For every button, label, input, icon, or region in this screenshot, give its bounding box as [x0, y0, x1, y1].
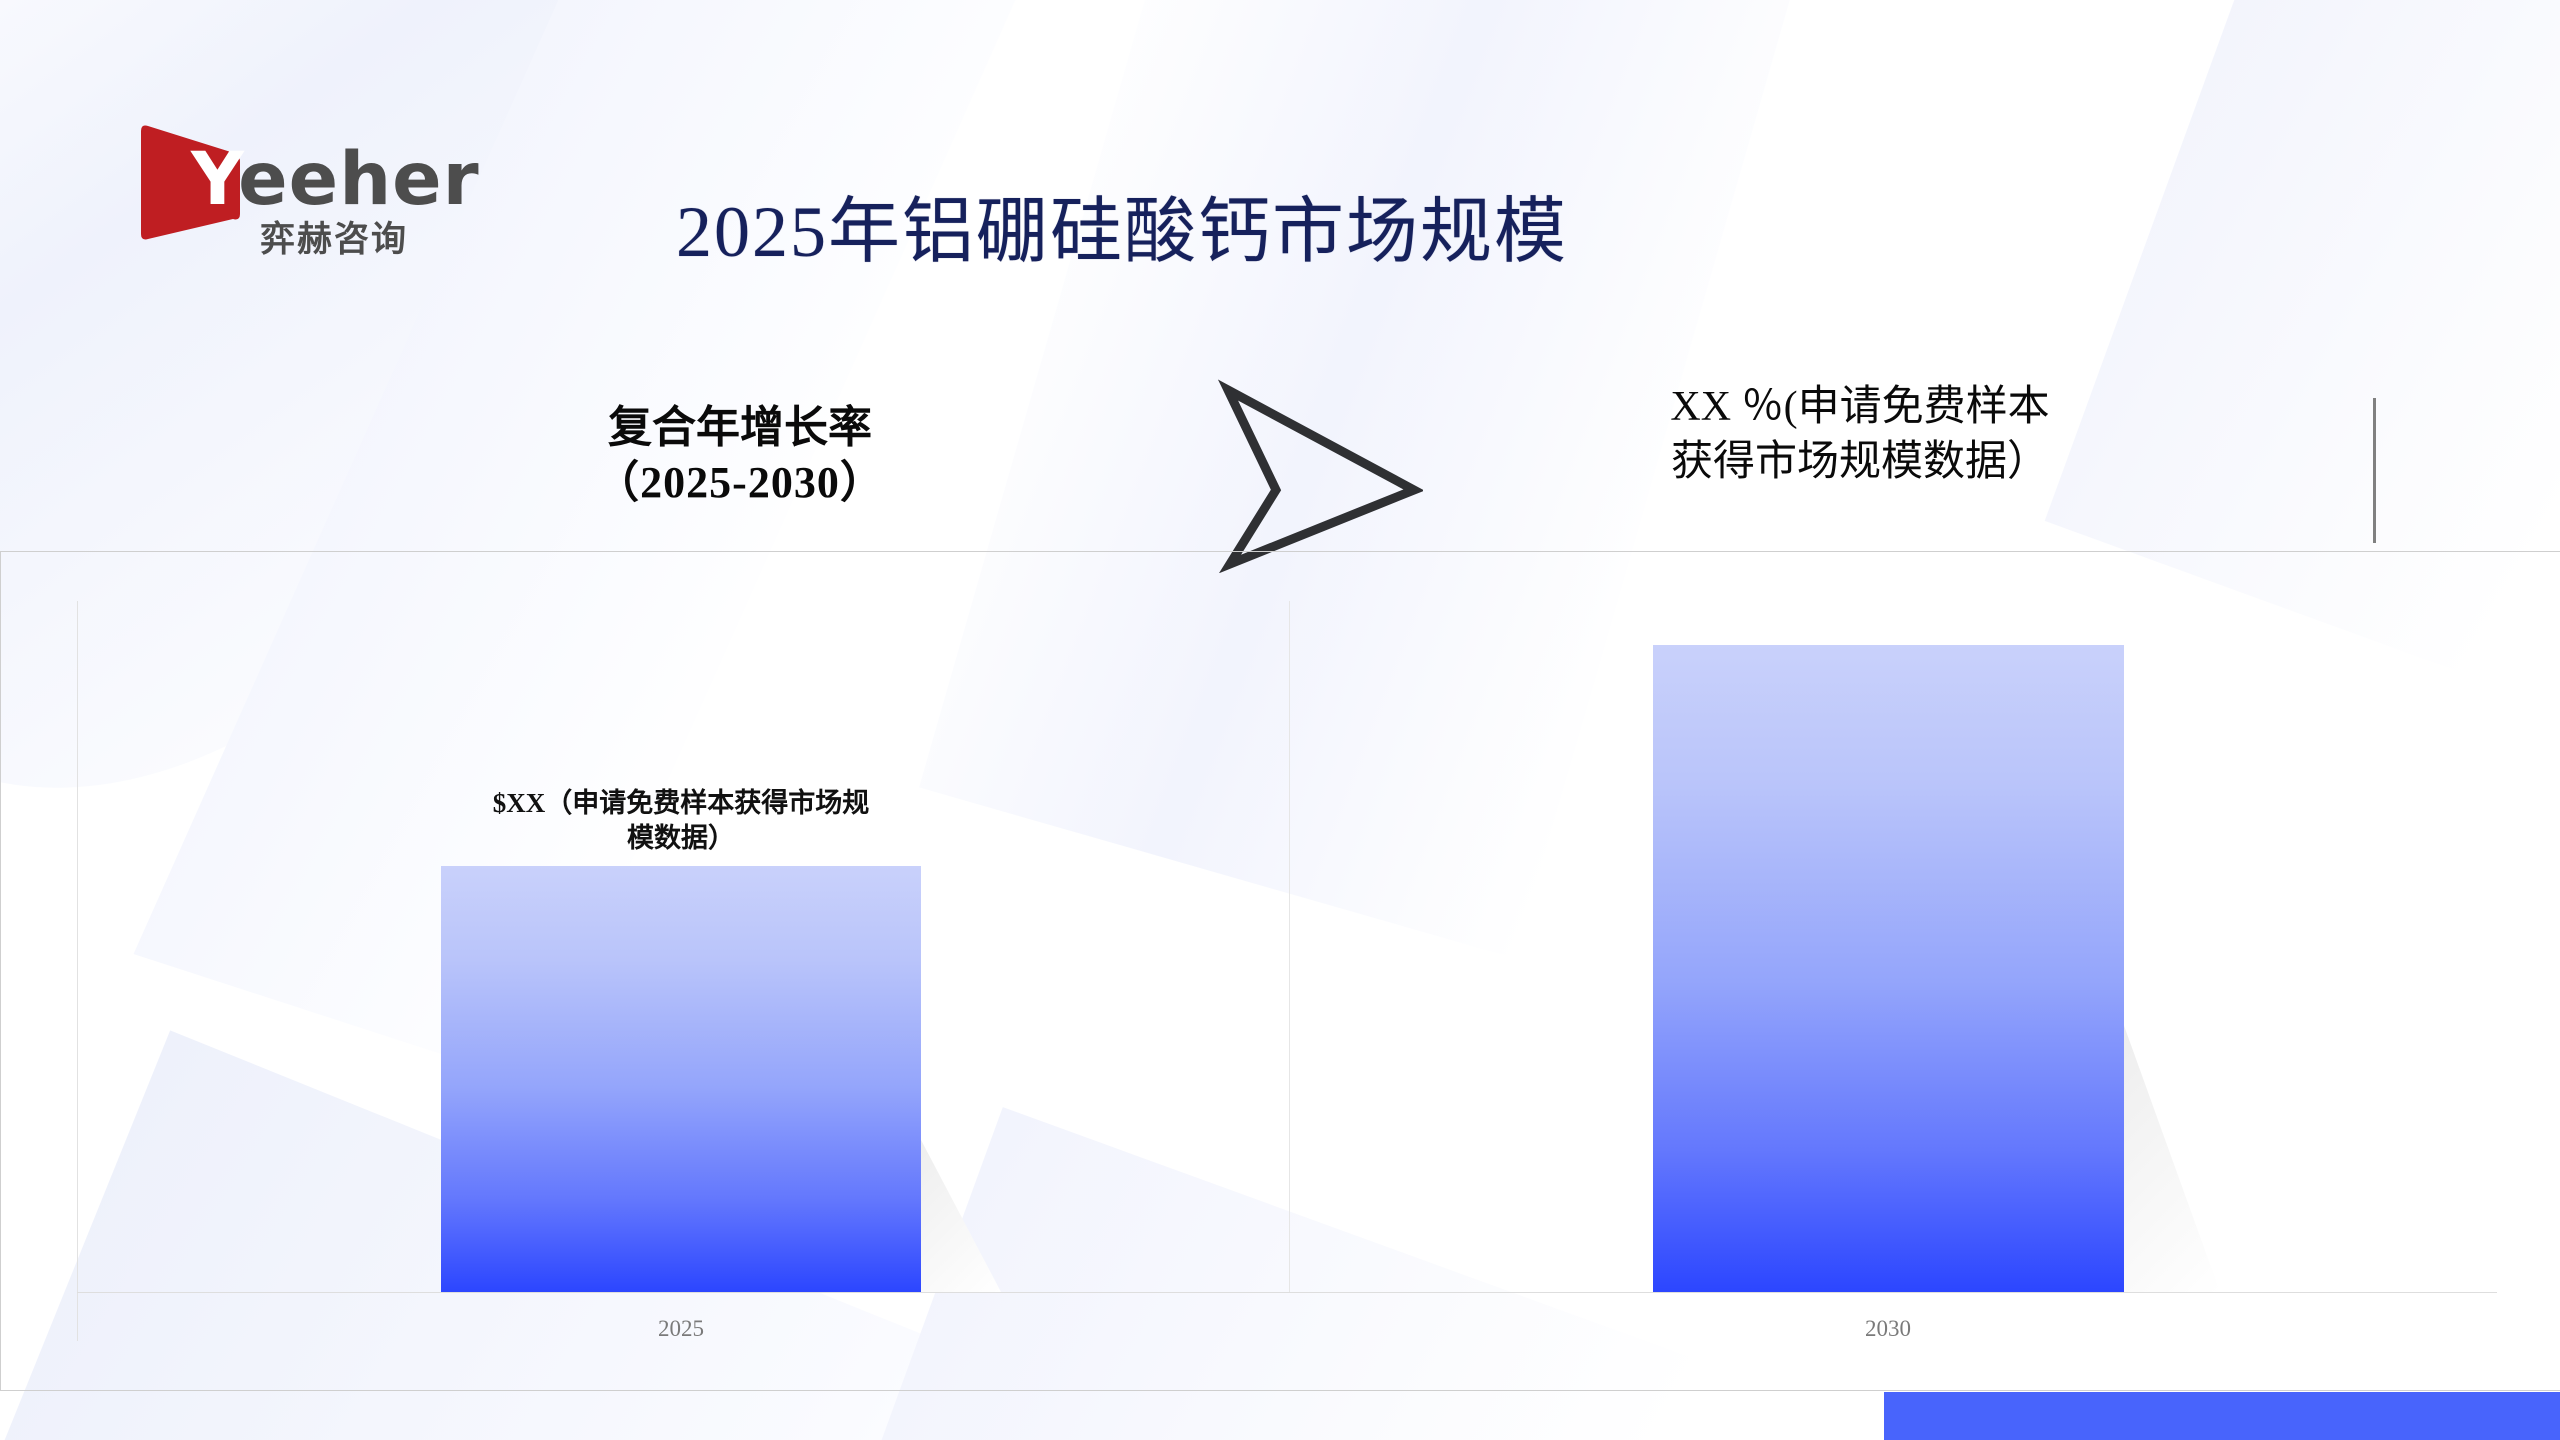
cagr-label-line2: （2025-2030）: [540, 455, 940, 510]
brand-logo: Yeeher 弈赫咨询: [133, 118, 493, 243]
x-tick-2030: 2030: [1748, 1316, 2028, 1342]
bar-label-2025-line1: $XX（申请免费样本获得市场规: [421, 786, 941, 821]
x-tick-2025: 2025: [541, 1316, 821, 1342]
cagr-value-note-line2: 获得市场规模数据）: [1610, 435, 2110, 490]
bar-label-2025: $XX（申请免费样本获得市场规 模数据）: [421, 786, 941, 856]
chart-left-rule: [77, 601, 78, 1341]
cagr-label: 复合年增长率 （2025-2030）: [540, 400, 940, 510]
cagr-value-note-line1: XX ％(申请免费样本: [1610, 380, 2110, 435]
right-vertical-divider: [2373, 398, 2376, 543]
brand-wordmark-rest: eeher: [238, 137, 480, 222]
cagr-label-line1: 复合年增长率: [540, 400, 940, 455]
bar-2030: [1653, 645, 2124, 1292]
bar-label-2025-line2: 模数据）: [421, 821, 941, 856]
page-title: 2025年铝硼硅酸钙市场规模: [676, 172, 1568, 277]
brand-wordmark: Yeeher: [191, 143, 480, 216]
bottom-accent-band: [1884, 1392, 2560, 1440]
right-arrow-icon: [1218, 378, 1423, 573]
cagr-value-note: XX ％(申请免费样本 获得市场规模数据）: [1610, 380, 2110, 489]
brand-wordmark-y: Y: [191, 137, 238, 222]
chart-mid-rule: [1289, 601, 1290, 1292]
brand-sub-text: 弈赫咨询: [260, 211, 408, 262]
bar-2025: [441, 866, 921, 1292]
chart-baseline: [77, 1292, 2497, 1293]
